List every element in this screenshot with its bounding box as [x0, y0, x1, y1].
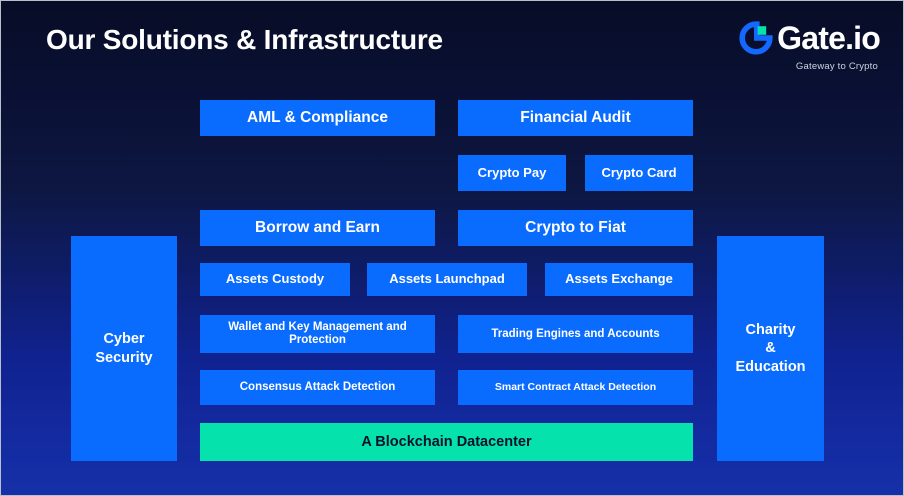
pillar-cyber-security[interactable]: Cyber Security	[71, 236, 177, 461]
solution-box-label: Crypto Pay	[478, 166, 547, 181]
pillar-charity-education[interactable]: Charity & Education	[717, 236, 824, 461]
solution-box-borrow-and-earn[interactable]: Borrow and Earn	[200, 210, 435, 246]
brand-tagline: Gateway to Crypto	[690, 61, 880, 72]
solution-box-assets-launchpad[interactable]: Assets Launchpad	[367, 263, 527, 296]
pillar-line-3: Education	[735, 359, 805, 375]
solution-box-assets-custody[interactable]: Assets Custody	[200, 263, 350, 296]
solution-box-label: Consensus Attack Detection	[240, 381, 396, 394]
solution-box-label: Assets Launchpad	[389, 272, 505, 287]
solution-box-label: Financial Audit	[520, 109, 631, 126]
solution-box-crypto-to-fiat[interactable]: Crypto to Fiat	[458, 210, 693, 246]
solution-box-label: Assets Exchange	[565, 272, 673, 287]
solution-box-consensus-attack-detection[interactable]: Consensus Attack Detection	[200, 370, 435, 405]
solution-box-crypto-pay[interactable]: Crypto Pay	[458, 155, 566, 191]
brand-row: Gate.io	[690, 18, 880, 58]
solution-box-label: Crypto Card	[601, 166, 676, 181]
pillar-cyber-security-label: Cyber Security	[95, 330, 152, 366]
pillar-line-2: Security	[95, 350, 152, 366]
datacenter-bar[interactable]: A Blockchain Datacenter	[200, 423, 693, 461]
pillar-line-1: Cyber	[103, 331, 144, 347]
slide-canvas: Our Solutions & Infrastructure Gate.io G…	[0, 0, 904, 496]
solution-box-label: Smart Contract Attack Detection	[495, 382, 656, 394]
pillar-line-2: &	[765, 340, 775, 356]
pillar-charity-education-label: Charity & Education	[735, 321, 805, 375]
page-title: Our Solutions & Infrastructure	[46, 24, 443, 56]
gate-io-logo-icon	[739, 21, 773, 55]
solution-box-trading-engines-and-accounts[interactable]: Trading Engines and Accounts	[458, 315, 693, 353]
solution-box-smart-contract-attack-detection[interactable]: Smart Contract Attack Detection	[458, 370, 693, 405]
solution-box-assets-exchange[interactable]: Assets Exchange	[545, 263, 693, 296]
pillar-line-1: Charity	[746, 322, 796, 338]
solution-box-label: AML & Compliance	[247, 109, 388, 126]
solution-box-wallet-and-key-management-and-protection[interactable]: Wallet and Key Management and Protection	[200, 315, 435, 353]
datacenter-label: A Blockchain Datacenter	[361, 434, 531, 450]
solution-box-aml-compliance[interactable]: AML & Compliance	[200, 100, 435, 136]
solution-box-label: Assets Custody	[226, 272, 324, 287]
solution-box-label: Wallet and Key Management and Protection	[206, 321, 429, 347]
solution-box-label: Borrow and Earn	[255, 219, 380, 236]
brand-name: Gate.io	[777, 22, 880, 54]
brand-logo: Gate.io Gateway to Crypto	[690, 18, 880, 74]
solution-box-crypto-card[interactable]: Crypto Card	[585, 155, 693, 191]
solution-box-financial-audit[interactable]: Financial Audit	[458, 100, 693, 136]
solution-box-label: Crypto to Fiat	[525, 219, 626, 236]
solution-box-label: Trading Engines and Accounts	[491, 328, 659, 341]
